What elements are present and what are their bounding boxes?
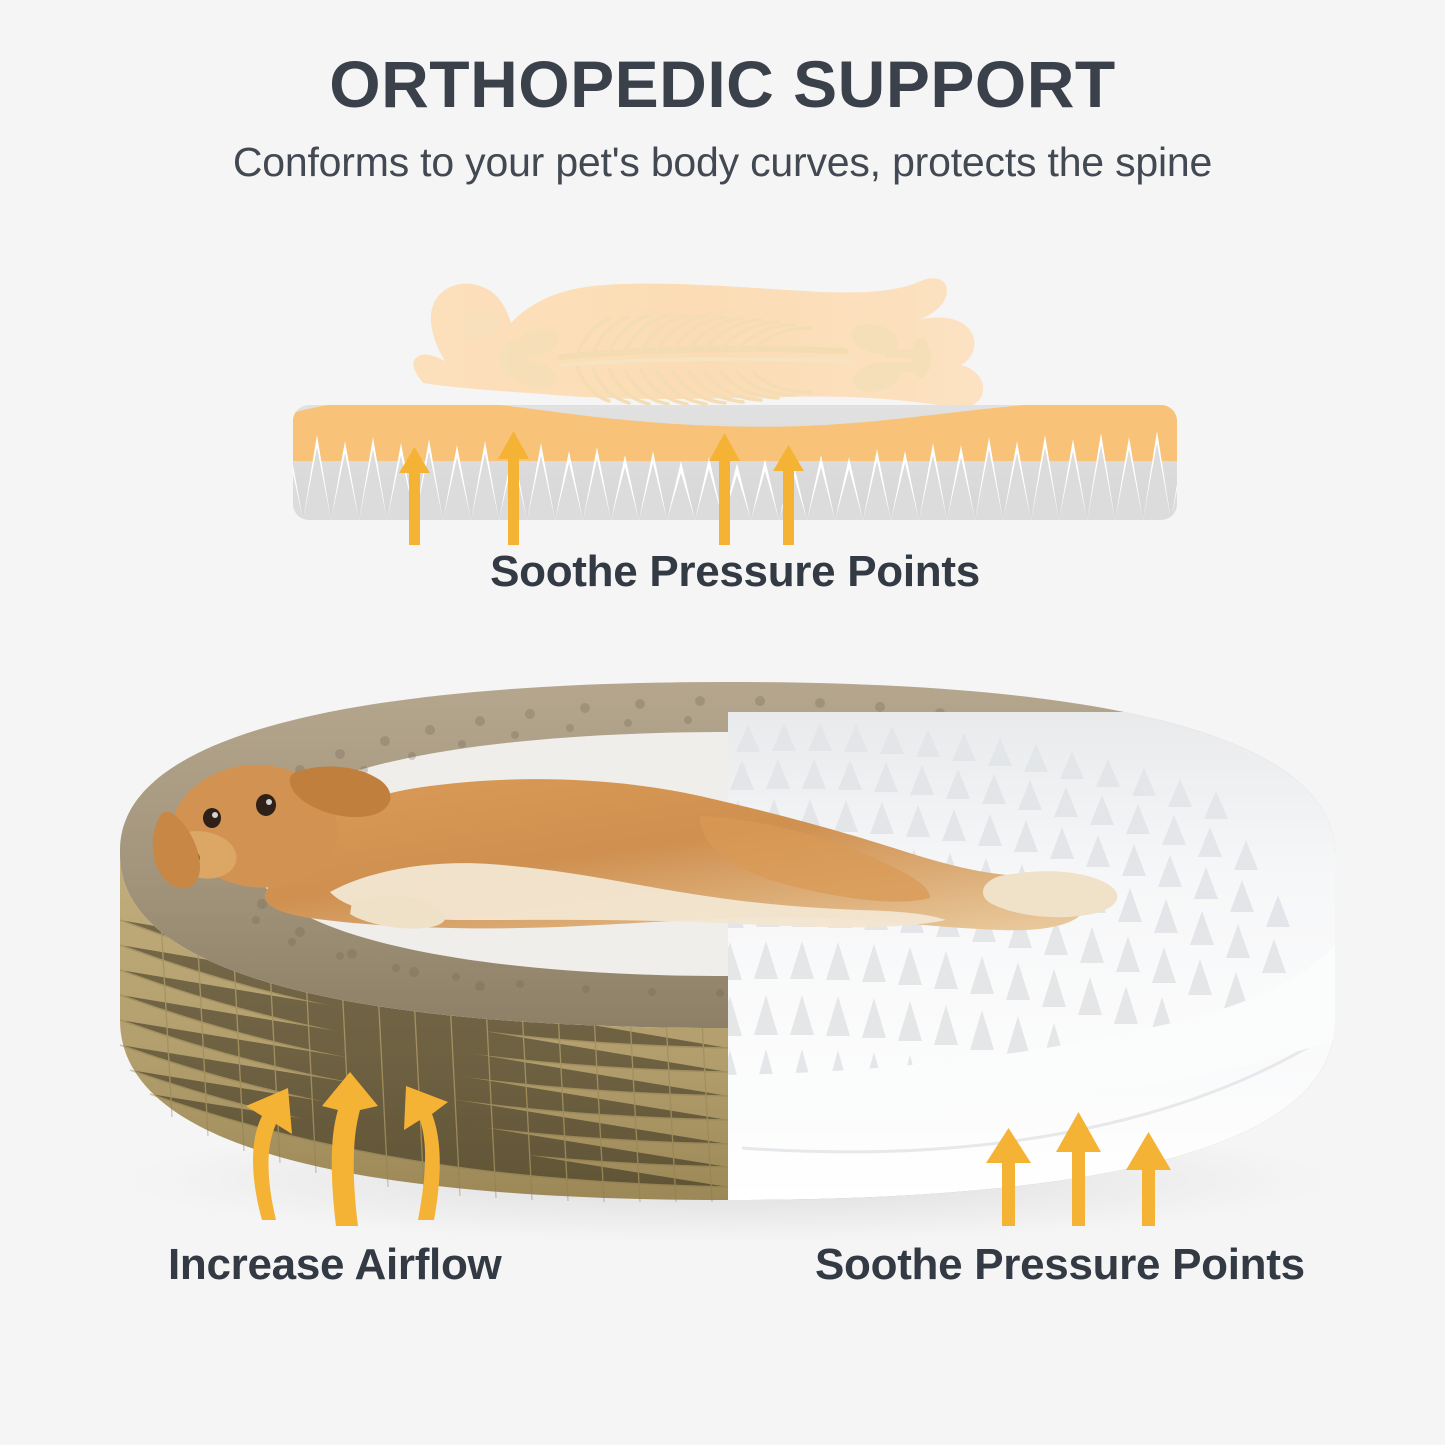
product-photo — [0, 620, 1445, 1280]
dog-bed-body — [120, 682, 1335, 1202]
bottom-labels: Increase Airflow Soothe Pressure Points — [0, 1240, 1445, 1310]
label-soothe-pressure-points: Soothe Pressure Points — [815, 1240, 1305, 1290]
dog-eye-right — [256, 794, 276, 816]
dog-silhouette-group — [413, 278, 983, 408]
dog-eye-left — [203, 808, 221, 828]
foam-cross-section-diagram: Soothe Pressure Points — [285, 265, 1185, 605]
header: ORTHOPEDIC SUPPORT Conforms to your pet'… — [0, 0, 1445, 186]
dog-bed-illustration — [0, 620, 1445, 1280]
foam-diagram-graphic — [285, 265, 1185, 555]
page-title: ORTHOPEDIC SUPPORT — [0, 0, 1445, 119]
label-increase-airflow: Increase Airflow — [168, 1240, 501, 1290]
page-subtitle: Conforms to your pet's body curves, prot… — [0, 119, 1445, 186]
diagram-caption: Soothe Pressure Points — [285, 547, 1185, 597]
